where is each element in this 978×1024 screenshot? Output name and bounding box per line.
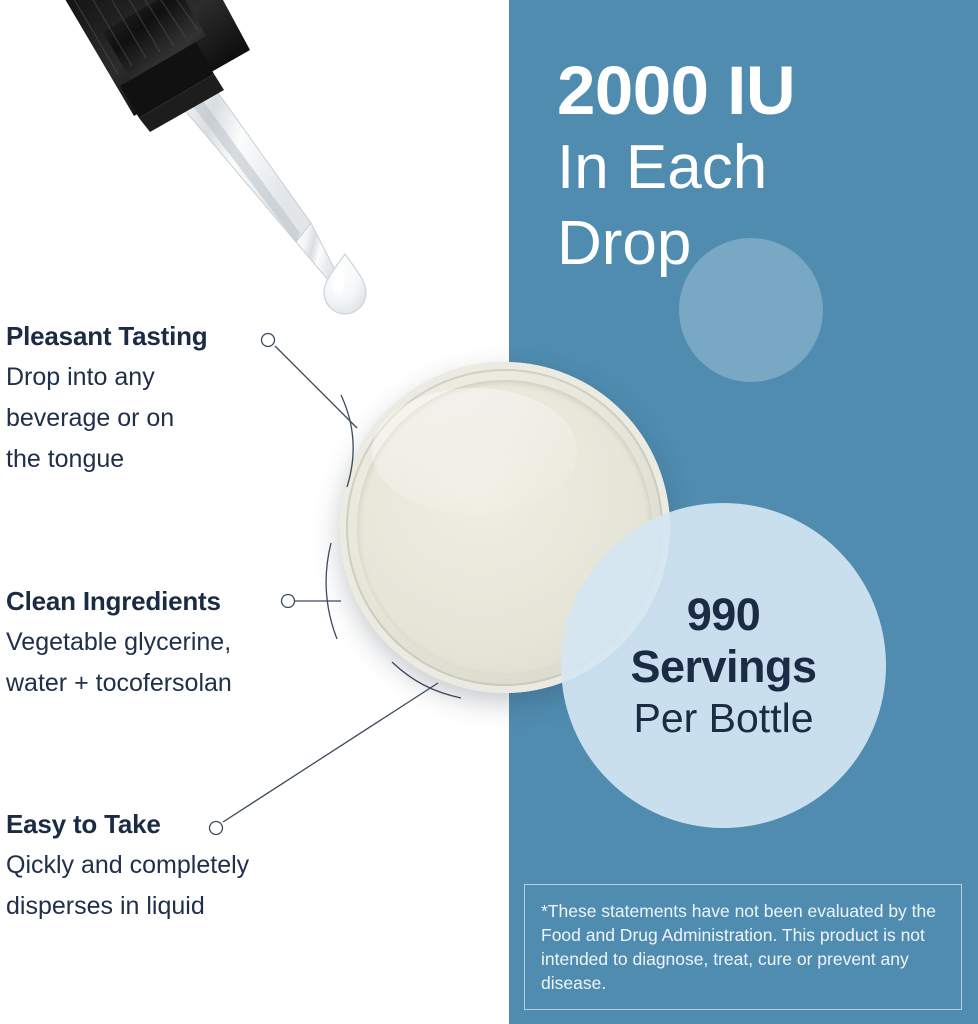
feature-body-line: Drop into any <box>6 357 208 398</box>
feature-title: Easy to Take <box>6 808 249 840</box>
servings-sub: Per Bottle <box>633 693 813 743</box>
feature-body-line: Qickly and completely <box>6 845 249 886</box>
headline-block: 2000 IU In Each Drop <box>557 52 977 282</box>
headline-secondary-line2: Drop <box>557 206 977 282</box>
feature-clean-ingredients: Clean Ingredients Vegetable glycerine, w… <box>6 585 232 704</box>
petri-dish-sheen <box>372 388 577 514</box>
feature-pleasant-tasting: Pleasant Tasting Drop into any beverage … <box>6 320 208 480</box>
feature-easy-to-take: Easy to Take Qickly and completely dispe… <box>6 808 249 927</box>
dropper-pipette-icon <box>0 0 400 320</box>
headline-primary: 2000 IU <box>557 52 977 130</box>
servings-unit: Servings <box>630 641 816 693</box>
feature-title: Clean Ingredients <box>6 585 232 617</box>
callout-circle-marker-icon <box>282 595 295 608</box>
feature-title: Pleasant Tasting <box>6 320 208 352</box>
feature-body-line: Vegetable glycerine, <box>6 622 232 663</box>
servings-count: 990 <box>687 589 761 641</box>
feature-body-line: beverage or on <box>6 398 208 439</box>
feature-body-line: water + tocofersolan <box>6 663 232 704</box>
product-infographic: 2000 IU In Each Drop <box>0 0 978 1024</box>
feature-body-line: the tongue <box>6 439 208 480</box>
fda-disclaimer: *These statements have not been evaluate… <box>524 884 962 1010</box>
servings-badge: 990 Servings Per Bottle <box>561 503 886 828</box>
feature-body-line: disperses in liquid <box>6 886 249 927</box>
headline-secondary-line1: In Each <box>557 130 977 206</box>
callout-circle-marker-icon <box>262 334 275 347</box>
